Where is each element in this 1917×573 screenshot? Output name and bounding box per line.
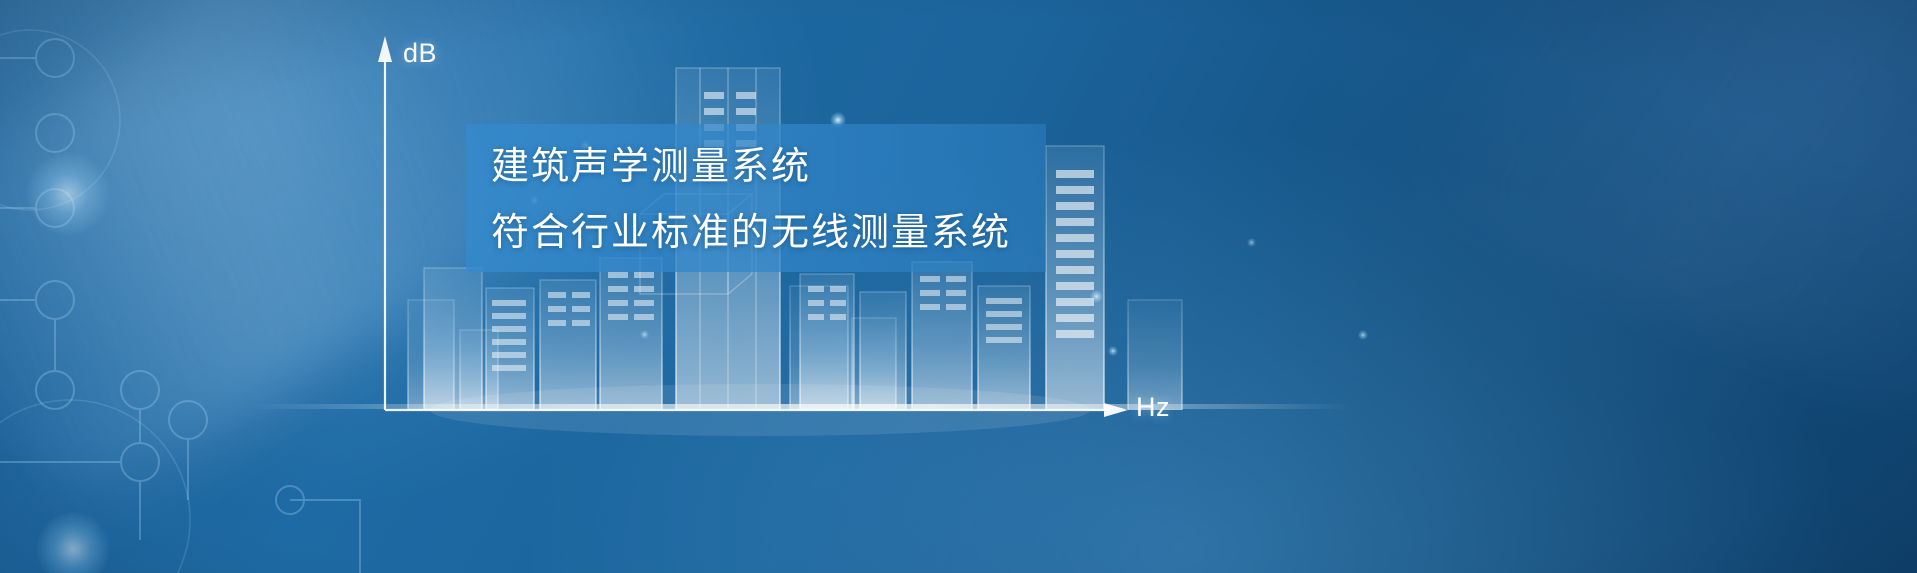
acoustics-banner: dB Hz <box>0 0 1917 573</box>
circuit-decoration <box>0 0 420 573</box>
glow-dot <box>640 330 649 339</box>
banner-subtitle: 符合行业标准的无线测量系统 <box>491 214 1251 252</box>
banner-title: 建筑声学测量系统 <box>491 148 1251 186</box>
glow-dot <box>1090 290 1103 303</box>
y-axis-label: dB <box>403 38 437 69</box>
light-sweep-decoration <box>1410 0 1917 446</box>
arrow-right-icon <box>1104 403 1128 417</box>
x-axis-label: Hz <box>1136 392 1170 423</box>
glow-dot <box>1108 346 1118 356</box>
headline-group: 建筑声学测量系统 符合行业标准的无线测量系统 <box>491 148 1251 252</box>
glow-dot <box>1358 330 1368 340</box>
